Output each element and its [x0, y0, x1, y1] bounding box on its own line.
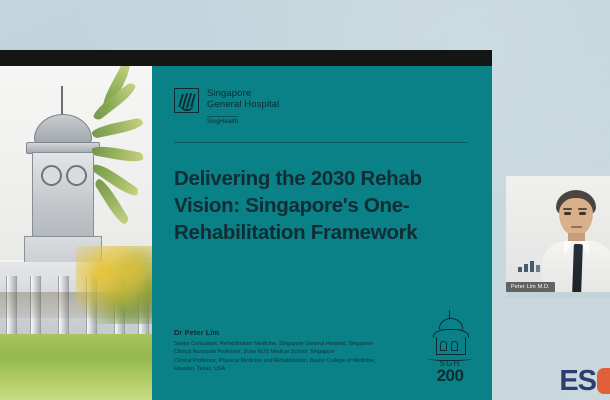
tower-body: [32, 152, 94, 240]
palm-frond: [91, 144, 144, 164]
clock-face-icon: [41, 165, 62, 186]
bicentennial-number: 200: [422, 367, 478, 384]
brand-line-2: General Hospital: [207, 100, 279, 111]
sgh-bicentennial-logo: SGH 200: [422, 310, 478, 382]
sgh-logo-mark-icon: [174, 88, 199, 113]
shared-slide[interactable]: Singapore General Hospital SingHealth De…: [0, 66, 492, 400]
corner-brand-text: ES: [559, 367, 596, 396]
participant-video-tile[interactable]: BS Peter Lim M.D.: [506, 176, 610, 298]
tree-canopy-illustration: [76, 246, 152, 324]
conference-stage: Singapore General Hospital SingHealth De…: [0, 0, 610, 400]
speaker-affiliation: Clinical Professor, Physical Medicine an…: [174, 357, 376, 366]
corner-brand-accent-icon: [597, 368, 610, 394]
slide-artwork-image: [0, 66, 152, 400]
palm-frond: [91, 117, 144, 139]
palm-fronds-illustration: [88, 104, 152, 214]
brand-subline: SingHealth: [207, 116, 238, 126]
clock-face-icon: [66, 165, 87, 186]
corner-brand-logo: ES: [559, 364, 610, 398]
speaker-byline: Dr Peter Lim Senior Consultant, Rehabili…: [174, 328, 376, 374]
speaker-affiliation: Clinical Associate Professor, Duke NUS M…: [174, 348, 376, 357]
slide-title: Delivering the 2030 Rehab Vision: Singap…: [174, 165, 468, 246]
tower-spire: [61, 86, 63, 116]
video-bottom-strip: [506, 292, 610, 298]
sgh-logo-text: Singapore General Hospital SingHealth: [207, 88, 279, 128]
lawn-illustration: [0, 334, 152, 400]
participant-name-label: Peter Lim M.D.: [506, 282, 555, 292]
slide-content: Singapore General Hospital SingHealth De…: [152, 66, 492, 400]
speaker-name: Dr Peter Lim: [174, 328, 376, 337]
slide-divider: [174, 142, 468, 143]
sgh-logo-lockup: Singapore General Hospital SingHealth: [174, 88, 468, 128]
slide-letterbox-bar: [0, 50, 492, 66]
speaker-affiliation: Senior Consultant, Rehabilitation Medici…: [174, 340, 376, 349]
speaker-affiliation: Houston, Texas, USA: [174, 365, 376, 374]
